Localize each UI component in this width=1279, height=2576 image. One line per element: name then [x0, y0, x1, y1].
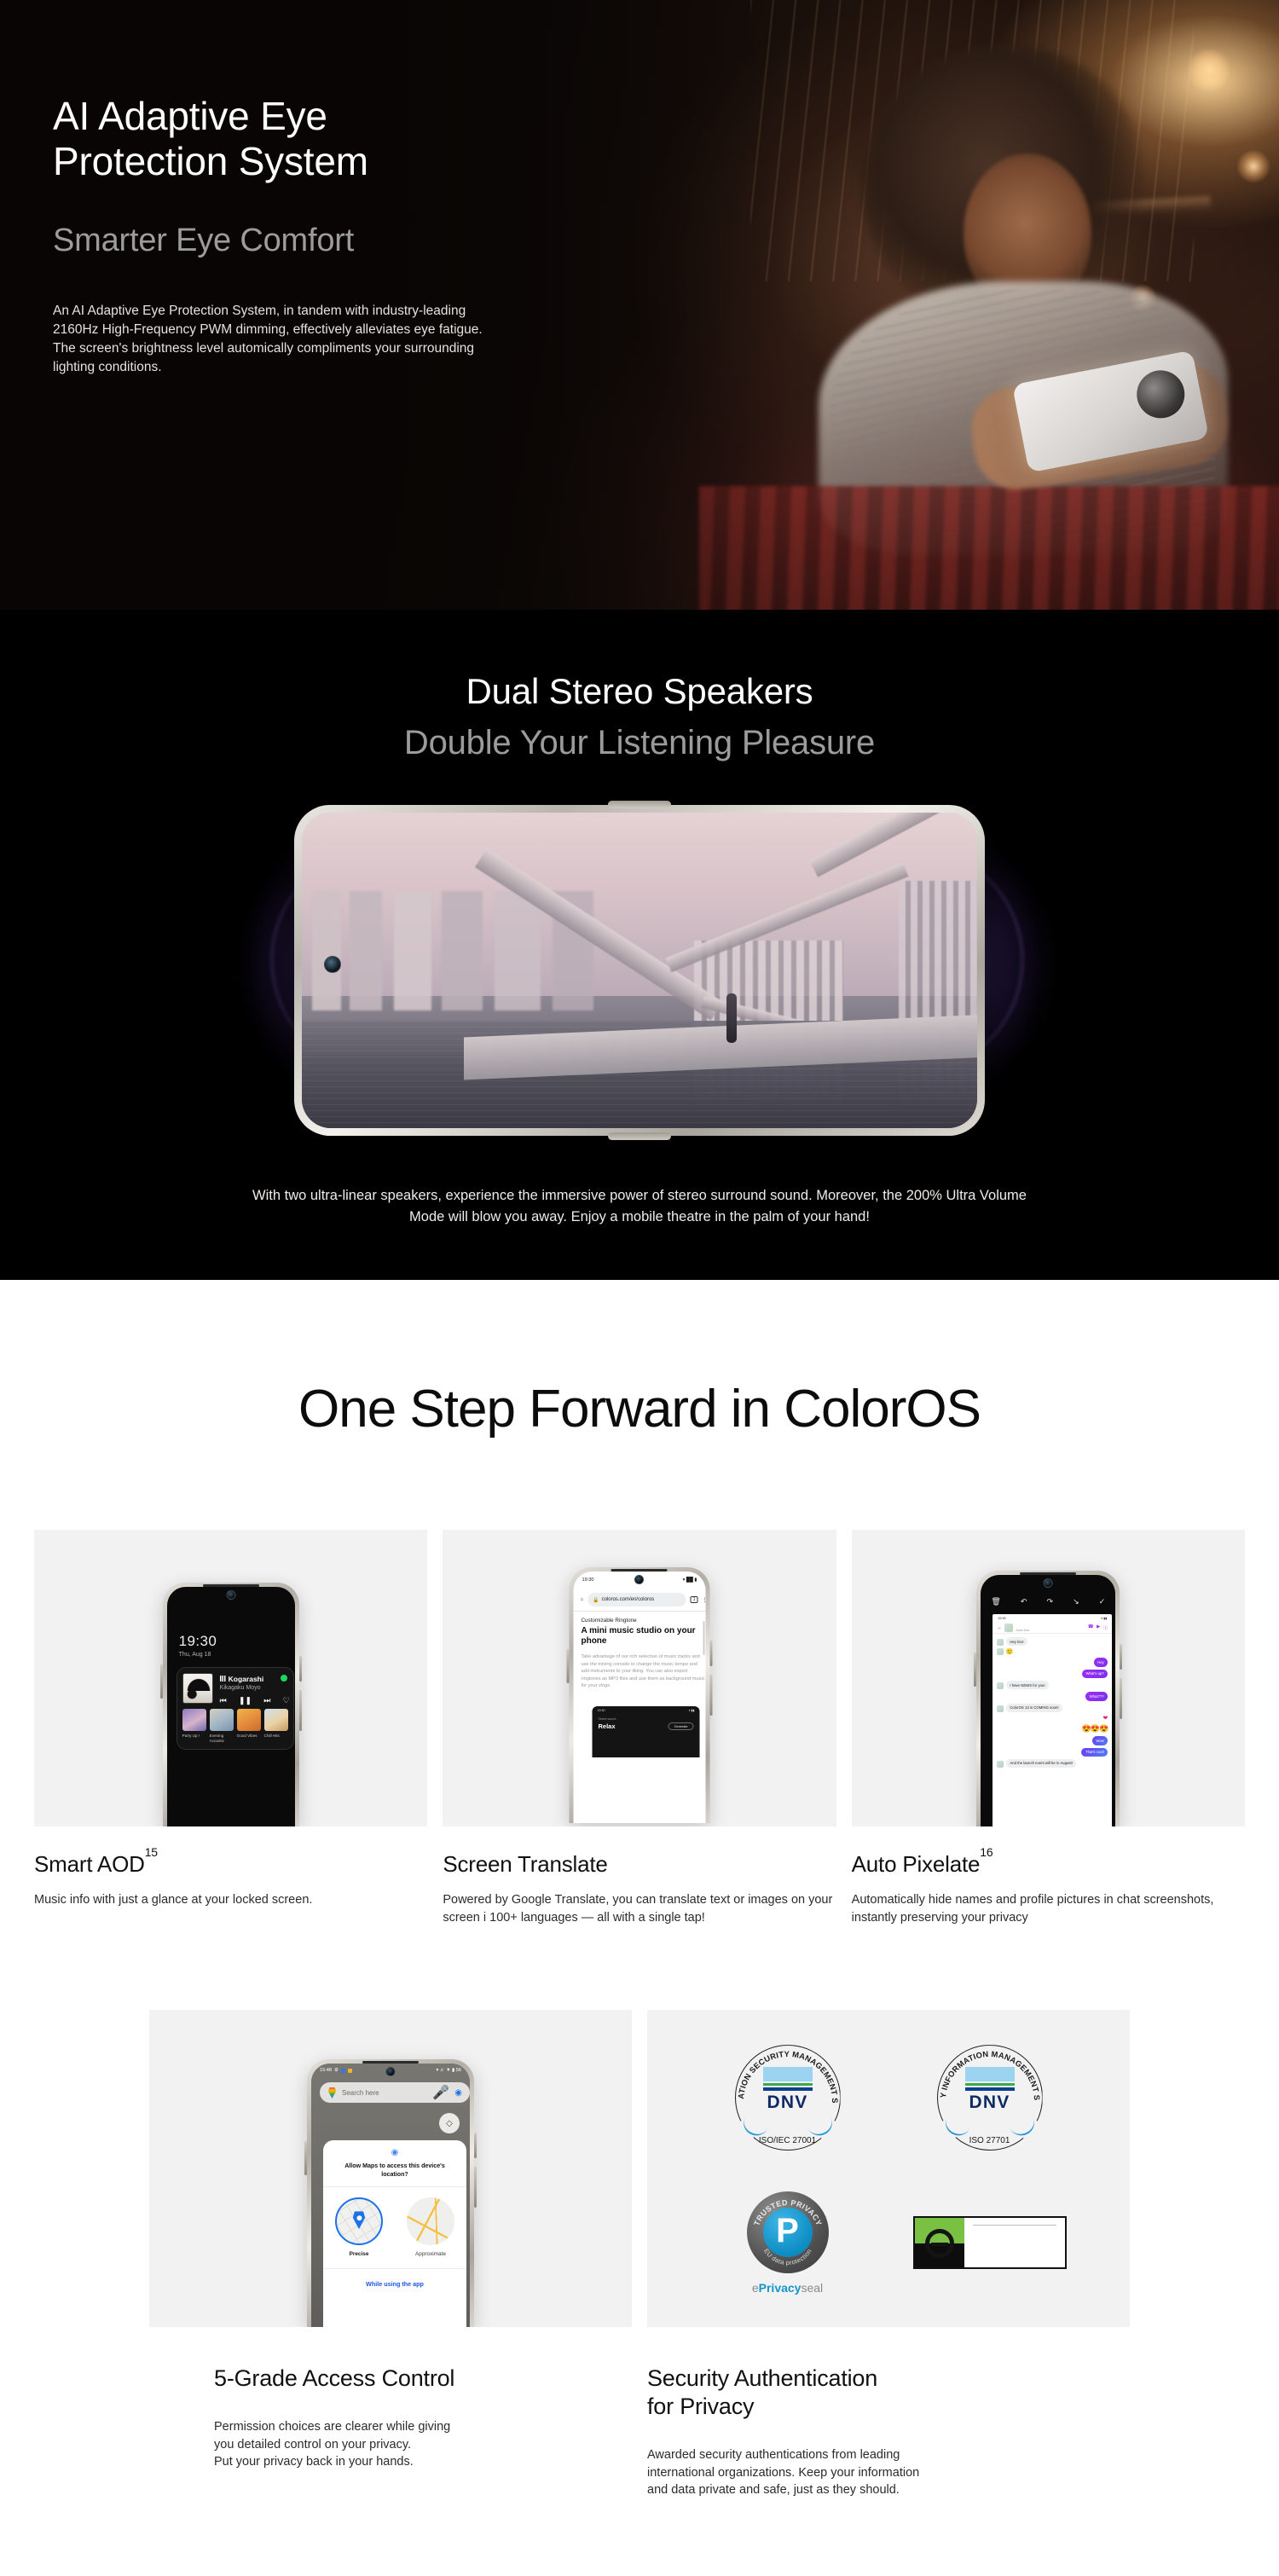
playlist-cover: [210, 1709, 234, 1731]
chat-bubble: Hey bro!: [1006, 1637, 1027, 1646]
auto-pixelate-screenshot: 🗑 ↶ ↷ ↘ ✓ 19:30 ▾ ▮▮: [852, 1530, 1245, 1826]
music-widget[interactable]: Kogarashi Kikagaku Moyo ⏮ ❚❚ ⏭ ♡: [177, 1667, 294, 1750]
phone-left-button: [974, 1653, 976, 1687]
logo-bar-green: [763, 2083, 813, 2086]
badge-iso-27001: INFORMATION SECURITY MANAGEMENT SYSTEM D…: [729, 2045, 847, 2151]
selected-sound-name: Relax: [598, 1722, 615, 1730]
maps-phone-mockup: 15:48 ⚙ ▾ ♬ ▼ ▮ 56 Search here �: [307, 2059, 474, 2327]
chat-bubble: Wow: [1092, 1736, 1108, 1745]
ringtone-studio-panel: 19:30 ▾ ▮▮ Select sound : Relax Generate: [592, 1706, 699, 1757]
dual-stereo-speakers-section: Dual Stereo Speakers Double Your Listeni…: [0, 610, 1279, 1280]
playlist-tiles: Party Up ! Evening Acoustic Good Vibes: [182, 1709, 290, 1743]
chat-row: Wow: [997, 1736, 1108, 1745]
page-paragraph: Take advantage of our rich selection of …: [581, 1653, 705, 1690]
browser-screen: 19:30 ▾ ██ ▮ ⌂ 🔒 coloros.com/en/coloros …: [573, 1572, 705, 1823]
earpiece-speaker: [611, 1569, 668, 1572]
badge-swoosh: [937, 2113, 1043, 2137]
playlist-tile[interactable]: Party Up !: [182, 1709, 206, 1743]
audio-section-title: Dual Stereo Speakers: [0, 671, 1279, 712]
precise-pin-icon: [352, 2210, 367, 2229]
playlist-label: Chill Hits: [264, 1734, 288, 1739]
maps-screen: 15:48 ⚙ ▾ ♬ ▼ ▮ 56 Search here �: [311, 2064, 470, 2327]
permission-options: Precise Approximate: [323, 2197, 466, 2257]
logo-bar-green: [965, 2083, 1015, 2086]
home-icon[interactable]: ⌂: [580, 1597, 583, 1602]
certifications-panel: INFORMATION SECURITY MANAGEMENT SYSTEM D…: [647, 2010, 1130, 2327]
like-icon[interactable]: ♡: [283, 1696, 290, 1705]
phone-power-button: [1120, 1678, 1122, 1719]
spotify-icon: [281, 1675, 287, 1682]
aod-phone-mockup: 19:30 Thu, Aug 18 Kogarashi Kikagaku Moy…: [163, 1583, 299, 1826]
precise-map-preview: [335, 2197, 383, 2245]
info-icon[interactable]: ⓘ: [1103, 1624, 1108, 1631]
feature-body: Awarded security authentications from le…: [647, 2446, 1130, 2499]
feature-title: Smart AOD15: [34, 1851, 427, 1878]
inner-status-bar: 19:30 ▾ ▮▮: [592, 1706, 699, 1714]
feature-grid-bottom: 15:48 ⚙ ▾ ♬ ▼ ▮ 56 Search here �: [0, 2010, 1279, 2499]
feature-title: Security Authentication for Privacy: [647, 2365, 1130, 2421]
approximate-map-preview: [407, 2197, 454, 2245]
pixelate-screen: 🗑 ↶ ↷ ↘ ✓ 19:30 ▾ ▮▮: [981, 1575, 1115, 1826]
eye-section-body: An AI Adaptive Eye Protection System, in…: [53, 302, 483, 377]
status-icons: ▾ ██ ▮: [683, 1577, 697, 1583]
earpiece-speaker: [203, 1584, 259, 1587]
maps-search-bar[interactable]: Search here 🎤 ◉: [320, 2082, 470, 2103]
badge-truste: [913, 2216, 1067, 2269]
badge-ring: PRIVACY INFORMATION MANAGEMENT SYSTEM DN…: [937, 2045, 1043, 2151]
gear-icon: ⚙: [334, 2068, 339, 2073]
chat-status-bar: 19:30 ▾ ▮▮: [993, 1614, 1112, 1622]
chat-bubble: I have NEWS for you!: [1006, 1681, 1049, 1689]
feature-body: Automatically hide names and profile pic…: [852, 1891, 1245, 1926]
chat-bubble: And the launch event will be in August!: [1006, 1759, 1077, 1768]
track-artist: Kikagaku Moyo: [220, 1685, 261, 1691]
confirm-icon[interactable]: ✓: [1099, 1597, 1106, 1606]
dnv-wordmark: DNV: [763, 2093, 813, 2111]
sender-avatar-pixelated: [997, 1682, 1004, 1689]
sender-avatar-pixelated: [997, 1648, 1004, 1655]
logo-bar-navy: [965, 2087, 1015, 2091]
option-label: Approximate: [402, 2251, 459, 2257]
search-input[interactable]: Search here: [342, 2089, 427, 2097]
game-character: [726, 993, 737, 1043]
smart-aod-screenshot: 19:30 Thu, Aug 18 Kogarashi Kikagaku Moy…: [34, 1530, 427, 1826]
dnv-logo: DNV: [965, 2067, 1015, 2111]
front-camera-icon: [324, 956, 341, 973]
map-layers-icon[interactable]: ◇: [439, 2113, 460, 2133]
feature-card-screen-translate: 19:30 ▾ ██ ▮ ⌂ 🔒 coloros.com/en/coloros …: [443, 1530, 836, 1926]
playlist-label: Good Vibes: [237, 1734, 261, 1739]
truste-divider: [973, 2225, 1056, 2226]
playlist-label: Evening Acoustic: [210, 1734, 234, 1743]
truste-e-icon: [925, 2229, 954, 2258]
eye-section-content: AI Adaptive Eye Protection System Smarte…: [53, 94, 599, 377]
share-icon[interactable]: ↘: [1073, 1597, 1079, 1606]
coloros-section: One Step Forward in ColorOS 19:30 Thu, A…: [0, 1280, 1279, 2576]
audio-section-body: With two ultra-linear speakers, experien…: [247, 1185, 1032, 1228]
chat-row: 😍😍😍: [997, 1724, 1108, 1734]
product-page: AI Adaptive Eye Protection System Smarte…: [0, 0, 1279, 2576]
sender-avatar-pixelated: [997, 1639, 1004, 1646]
phone-volume-button: [474, 2133, 477, 2158]
generate-button[interactable]: Generate: [668, 1722, 694, 1730]
inner-status-icons: ▾ ▮▮: [689, 1709, 695, 1712]
feature-title: Auto Pixelate16: [852, 1851, 1245, 1878]
overflow-menu-icon[interactable]: ⋮: [702, 1597, 705, 1603]
playlist-tile[interactable]: Evening Acoustic: [210, 1709, 234, 1743]
dnv-logo: DNV: [763, 2067, 813, 2111]
chat-status-time: 19:30: [998, 1617, 1005, 1620]
status-time: 15:48: [320, 2068, 332, 2073]
logo-bar-blue: [965, 2067, 1015, 2081]
audio-heading-group: Dual Stereo Speakers Double Your Listeni…: [0, 610, 1279, 762]
pixelate-phone-mockup: 🗑 ↶ ↷ ↘ ✓ 19:30 ▾ ▮▮: [976, 1571, 1120, 1826]
chat-row: That's cool!: [997, 1748, 1108, 1757]
feature-body: Permission choices are clearer while giv…: [149, 2418, 632, 2471]
back-icon[interactable]: ←: [997, 1625, 1002, 1630]
chat-bubble: ColorOS 13 is COMING soon!: [1006, 1704, 1062, 1712]
standard-label: ISO/IEC 27001: [759, 2136, 816, 2145]
lockscreen-time: 19:30: [179, 1633, 217, 1650]
maps-logo-icon: [327, 2087, 337, 2098]
dialog-divider: [323, 2268, 466, 2269]
feature-grid-top: 19:30 Thu, Aug 18 Kogarashi Kikagaku Moy…: [0, 1530, 1279, 1926]
play-pause-icon[interactable]: ❚❚: [239, 1696, 252, 1705]
browser-phone-mockup: 19:30 ▾ ██ ▮ ⌂ 🔒 coloros.com/en/coloros …: [569, 1567, 709, 1823]
truste-text-block: [964, 2218, 1065, 2267]
status-time: 19:30: [582, 1577, 593, 1583]
contact-status: Active Now: [1016, 1629, 1029, 1632]
microphone-icon[interactable]: 🎤: [432, 2084, 449, 2101]
speaker-grill-top: [608, 801, 671, 808]
call-icon[interactable]: ☎: [1088, 1624, 1094, 1631]
feature-card-smart-aod: 19:30 Thu, Aug 18 Kogarashi Kikagaku Moy…: [34, 1530, 427, 1909]
chat-header: ← Active Now ☎ ▶ ⓘ: [993, 1622, 1112, 1634]
badge-iso-27701: PRIVACY INFORMATION MANAGEMENT SYSTEM DN…: [931, 2045, 1049, 2151]
while-using-app-button[interactable]: While using the app: [323, 2280, 466, 2288]
permission-dialog: ◉ Allow Maps to access this device's loc…: [323, 2140, 466, 2327]
option-approximate[interactable]: Approximate: [402, 2197, 459, 2257]
front-camera-icon: [226, 1590, 235, 1600]
chat-row: What???: [997, 1692, 1108, 1700]
chat-status-icons: ▾ ▮▮: [1101, 1617, 1107, 1620]
sender-avatar-pixelated: [997, 1761, 1004, 1768]
equalizer-icon: [220, 1676, 226, 1682]
chat-row: Hey bro!: [997, 1637, 1108, 1646]
aod-screen: 19:30 Thu, Aug 18 Kogarashi Kikagaku Moy…: [167, 1587, 295, 1826]
playlist-cover: [264, 1709, 288, 1731]
phone-volume-button: [709, 1641, 712, 1666]
feature-card-security-authentication: INFORMATION SECURITY MANAGEMENT SYSTEM D…: [647, 2010, 1130, 2499]
lock-icon: 🔒: [593, 1597, 599, 1603]
option-precise[interactable]: Precise: [331, 2197, 387, 2257]
chat-screenshot: 19:30 ▾ ▮▮ ← Active Now: [993, 1614, 1112, 1826]
front-camera-icon: [1044, 1578, 1053, 1588]
chat-emoji: 😍😍😍: [1082, 1724, 1108, 1734]
phone-power-button: [709, 1675, 712, 1716]
inner-status-time: 19:30: [597, 1709, 605, 1712]
sender-avatar-pixelated: [997, 1705, 1004, 1712]
feature-card-access-control: 15:48 ⚙ ▾ ♬ ▼ ▮ 56 Search here �: [149, 2010, 632, 2499]
status-right: ▾ ♬ ▼ ▮ 56: [437, 2068, 461, 2073]
page-headline: A mini music studio on your phone: [581, 1626, 705, 1647]
screen-translate-screenshot: 19:30 ▾ ██ ▮ ⌂ 🔒 coloros.com/en/coloros …: [443, 1530, 836, 1826]
undo-icon[interactable]: ↶: [1021, 1597, 1027, 1606]
chat-bubble: That's cool!: [1081, 1748, 1108, 1757]
footnote-marker: 15: [145, 1845, 158, 1859]
seal-letter: P: [776, 2214, 799, 2248]
chat-emoji: 🙂: [1006, 1648, 1014, 1655]
battery-level: 56: [456, 2068, 461, 2073]
eprivacyseal-wordmark: ePrivacyseal: [747, 2281, 829, 2295]
chat-row: And the launch event will be in August!: [997, 1759, 1108, 1768]
seal-graphic: TRUSTED PRIVACY EU data protection P: [747, 2191, 829, 2273]
eye-section-title: AI Adaptive Eye Protection System: [53, 94, 599, 185]
phone-left-button: [160, 1664, 163, 1699]
chat-bubble: What???: [1085, 1692, 1108, 1700]
phone-left-button: [304, 2141, 307, 2175]
playback-controls: ⏮ ❚❚ ⏭ ♡: [220, 1696, 290, 1705]
chat-message-list: Hey bro! 🙂 Hey What's up? I have NEWS fo…: [993, 1634, 1112, 1771]
track-title: Kogarashi: [229, 1675, 264, 1683]
logo-bar-blue: [763, 2067, 813, 2081]
feature-body: Powered by Google Translate, you can tra…: [443, 1891, 836, 1926]
avatar[interactable]: ◉: [454, 2088, 462, 2098]
phone-power-button: [474, 2167, 477, 2208]
tab-count-button[interactable]: 1: [691, 1596, 698, 1603]
status-left: 15:48 ⚙: [320, 2068, 352, 2073]
chat-emoji: ❤: [1102, 1715, 1108, 1722]
speaker-grill-bottom: [608, 1132, 671, 1140]
toolbar-divider: [573, 1611, 705, 1612]
chat-row: I have NEWS for you!: [997, 1681, 1108, 1689]
feature-card-auto-pixelate: 🗑 ↶ ↷ ↘ ✓ 19:30 ▾ ▮▮: [852, 1530, 1245, 1926]
playlist-tile[interactable]: Chill Hits: [264, 1709, 288, 1743]
address-bar[interactable]: 🔒 coloros.com/en/coloros: [587, 1593, 686, 1606]
delete-icon[interactable]: 🗑: [991, 1597, 1000, 1606]
chat-bubble: What's up?: [1082, 1670, 1108, 1678]
footnote-marker: 16: [980, 1845, 993, 1859]
badge-eprivacyseal: TRUSTED PRIVACY EU data protection P ePr…: [747, 2191, 829, 2295]
phone-left-button: [566, 1649, 569, 1683]
audio-section-subtitle: Double Your Listening Pleasure: [0, 724, 1279, 762]
option-label: Precise: [331, 2251, 387, 2257]
select-sound-label: Select sound :: [598, 1717, 617, 1721]
front-camera-icon: [386, 2067, 396, 2076]
feature-body: Music info with just a glance at your lo…: [34, 1891, 427, 1909]
lockscreen-date: Thu, Aug 18: [179, 1652, 211, 1658]
chat-row: ColorOS 13 is COMING soon!: [997, 1704, 1108, 1712]
video-call-icon[interactable]: ▶: [1097, 1624, 1100, 1631]
certification-badge-grid: INFORMATION SECURITY MANAGEMENT SYSTEM D…: [647, 2010, 1130, 2327]
phone-volume-button: [1120, 1644, 1122, 1670]
landscape-phone-mockup: [294, 805, 985, 1136]
redo-icon[interactable]: ↷: [1046, 1597, 1053, 1606]
permission-dialog-title: Allow Maps to access this device's locat…: [335, 2162, 454, 2179]
chat-row: 🙂: [997, 1648, 1108, 1655]
logo-bar-navy: [763, 2087, 813, 2091]
truste-emblem: [915, 2218, 964, 2267]
earpiece-speaker: [1020, 1572, 1076, 1575]
earpiece-speaker: [362, 2061, 419, 2064]
chat-row: Hey: [997, 1658, 1108, 1666]
screenshot-editor-toolbar: 🗑 ↶ ↷ ↘ ✓: [981, 1594, 1115, 1609]
playlist-label: Party Up !: [182, 1734, 206, 1739]
front-camera-icon: [634, 1575, 644, 1584]
contact-info: Active Now: [1016, 1620, 1029, 1635]
eye-section-subtitle: Smarter Eye Comfort: [53, 223, 599, 259]
playlist-cover: [182, 1709, 206, 1731]
phone-screen-game: [302, 813, 977, 1128]
feature-title: Screen Translate: [443, 1851, 836, 1878]
playlist-tile[interactable]: Good Vibes: [237, 1709, 261, 1743]
coloros-section-title: One Step Forward in ColorOS: [0, 1379, 1279, 1439]
chat-bubble: Hey: [1094, 1658, 1108, 1666]
contact-avatar-pixelated: [1004, 1624, 1013, 1632]
standard-label: ISO 27701: [969, 2136, 1010, 2145]
eye-protection-section: AI Adaptive Eye Protection System Smarte…: [0, 0, 1279, 610]
previous-track-icon[interactable]: ⏮: [220, 1696, 227, 1705]
location-pin-icon: ◉: [323, 2148, 466, 2157]
phone-volume-button: [299, 1656, 302, 1682]
phone-power-button: [299, 1690, 302, 1731]
access-control-screenshot: 15:48 ⚙ ▾ ♬ ▼ ▮ 56 Search here �: [149, 2010, 632, 2327]
badge-ring: INFORMATION SECURITY MANAGEMENT SYSTEM D…: [735, 2045, 841, 2151]
chat-row: ❤: [997, 1715, 1108, 1722]
feature-title: 5-Grade Access Control: [149, 2365, 632, 2393]
notification-icon: [341, 2069, 345, 2073]
dialog-divider: [323, 2186, 466, 2187]
dnv-wordmark: DNV: [965, 2093, 1015, 2111]
browser-toolbar: ⌂ 🔒 coloros.com/en/coloros 1 ⋮: [580, 1591, 705, 1608]
page-eyebrow: Customizable Ringtone: [581, 1618, 636, 1624]
url-text: coloros.com/en/coloros: [602, 1597, 655, 1602]
album-art: [182, 1673, 213, 1704]
notification-icon: [348, 2069, 352, 2073]
scrollbar[interactable]: [703, 1621, 704, 1655]
next-track-icon[interactable]: ⏭: [263, 1696, 270, 1705]
chat-row: What's up?: [997, 1670, 1108, 1678]
playlist-cover: [237, 1709, 261, 1731]
audio-stage: [0, 790, 1279, 1156]
badge-swoosh: [735, 2113, 841, 2137]
chat-header-actions: ☎ ▶ ⓘ: [1088, 1624, 1108, 1631]
seal-center: P: [763, 2208, 813, 2257]
